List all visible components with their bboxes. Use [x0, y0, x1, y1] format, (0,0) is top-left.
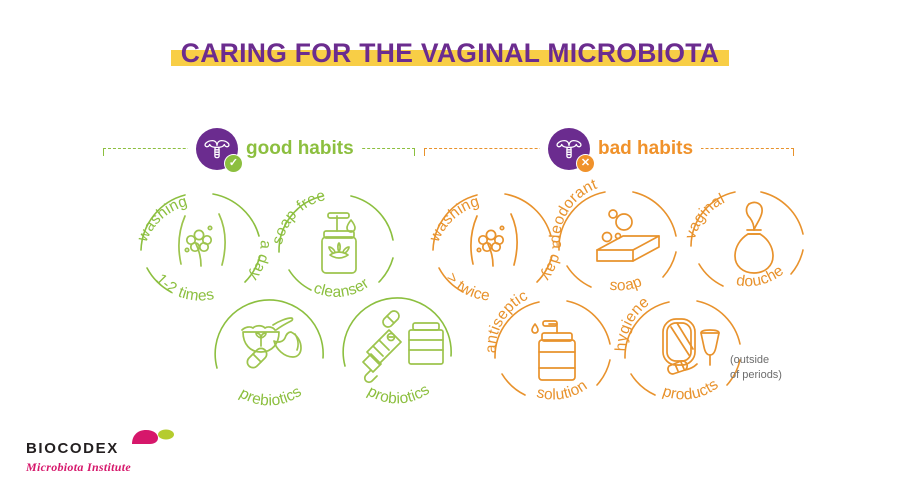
torso-microbiota-icon: [471, 214, 517, 266]
habit-text-top: deodorant: [547, 176, 600, 244]
habit-hygiene-products: hygiene products: [615, 288, 765, 406]
habit-text-top: vaginal: [682, 190, 727, 241]
habit-prebiotics: prebiotics: [199, 292, 349, 410]
habit-vaginal-douche: vaginal douche: [679, 178, 829, 296]
cross-icon: ✕: [576, 154, 595, 173]
logo-tagline: Microbiota Institute: [26, 461, 226, 473]
habit-soap-free-cleanser: soap-free cleanser: [267, 182, 417, 300]
logo-wordmark: BIOCODEX: [26, 440, 119, 457]
habit-text-bottom: solution: [535, 377, 591, 404]
logo-mark-icon: [130, 429, 176, 445]
habit-text-top: washing: [134, 193, 190, 245]
uterus-icon: ✕: [548, 128, 590, 170]
pump-bottle-lotus-icon: [322, 213, 356, 273]
habit-text-bottom: prebiotics: [237, 383, 305, 409]
pump-dispenser-icon: [532, 321, 575, 380]
torso-microbiota-icon: [179, 214, 225, 266]
bulb-syringe-icon: [735, 202, 773, 273]
habit-text-bottom: > twice: [443, 269, 491, 304]
habit-text-top: soap-free: [269, 187, 327, 246]
check-icon: ✓: [224, 154, 243, 173]
habit-text-bottom: douche: [735, 262, 787, 290]
good-habits-header: ✓ good habits: [188, 128, 362, 170]
habit-text-top: washing: [426, 193, 482, 245]
habit-antiseptic-solution: antiseptic solution: [485, 288, 635, 406]
habit-text-top: hygiene: [613, 293, 653, 351]
title-text: CARING FOR THE VAGINAL MICROBIOTA: [181, 38, 719, 68]
habit-text-bottom: probiotics: [365, 381, 433, 407]
soap-bar-bubbles-icon: [597, 210, 659, 261]
habit-washing-1-2-times-a-day: washing a day 1-2 times: [127, 182, 277, 300]
biocodex-logo: BIOCODEX Microbiota Institute: [26, 440, 226, 484]
bad-habits-label: bad habits: [598, 138, 693, 160]
hygiene-products-note: (outside of periods): [730, 353, 782, 383]
good-habits-label: good habits: [246, 138, 354, 160]
habit-deodorant-soap: deodorant soap: [549, 178, 699, 296]
bowl-banana-capsule-icon: [242, 318, 301, 368]
habit-washing-more-than-twice-a-day: washing a day > twice: [419, 182, 569, 300]
pad-cup-tampon-icon: [663, 319, 719, 374]
page-title: CARING FOR THE VAGINAL MICROBIOTA: [0, 38, 900, 69]
bad-habits-header: ✕ bad habits: [540, 128, 701, 170]
uterus-icon: ✓: [196, 128, 238, 170]
habit-text-top: antiseptic: [483, 287, 531, 353]
habit-text-bottom: products: [660, 376, 721, 404]
habit-probiotics: probiotics: [329, 292, 479, 410]
tube-jar-capsule-icon: [363, 311, 443, 382]
